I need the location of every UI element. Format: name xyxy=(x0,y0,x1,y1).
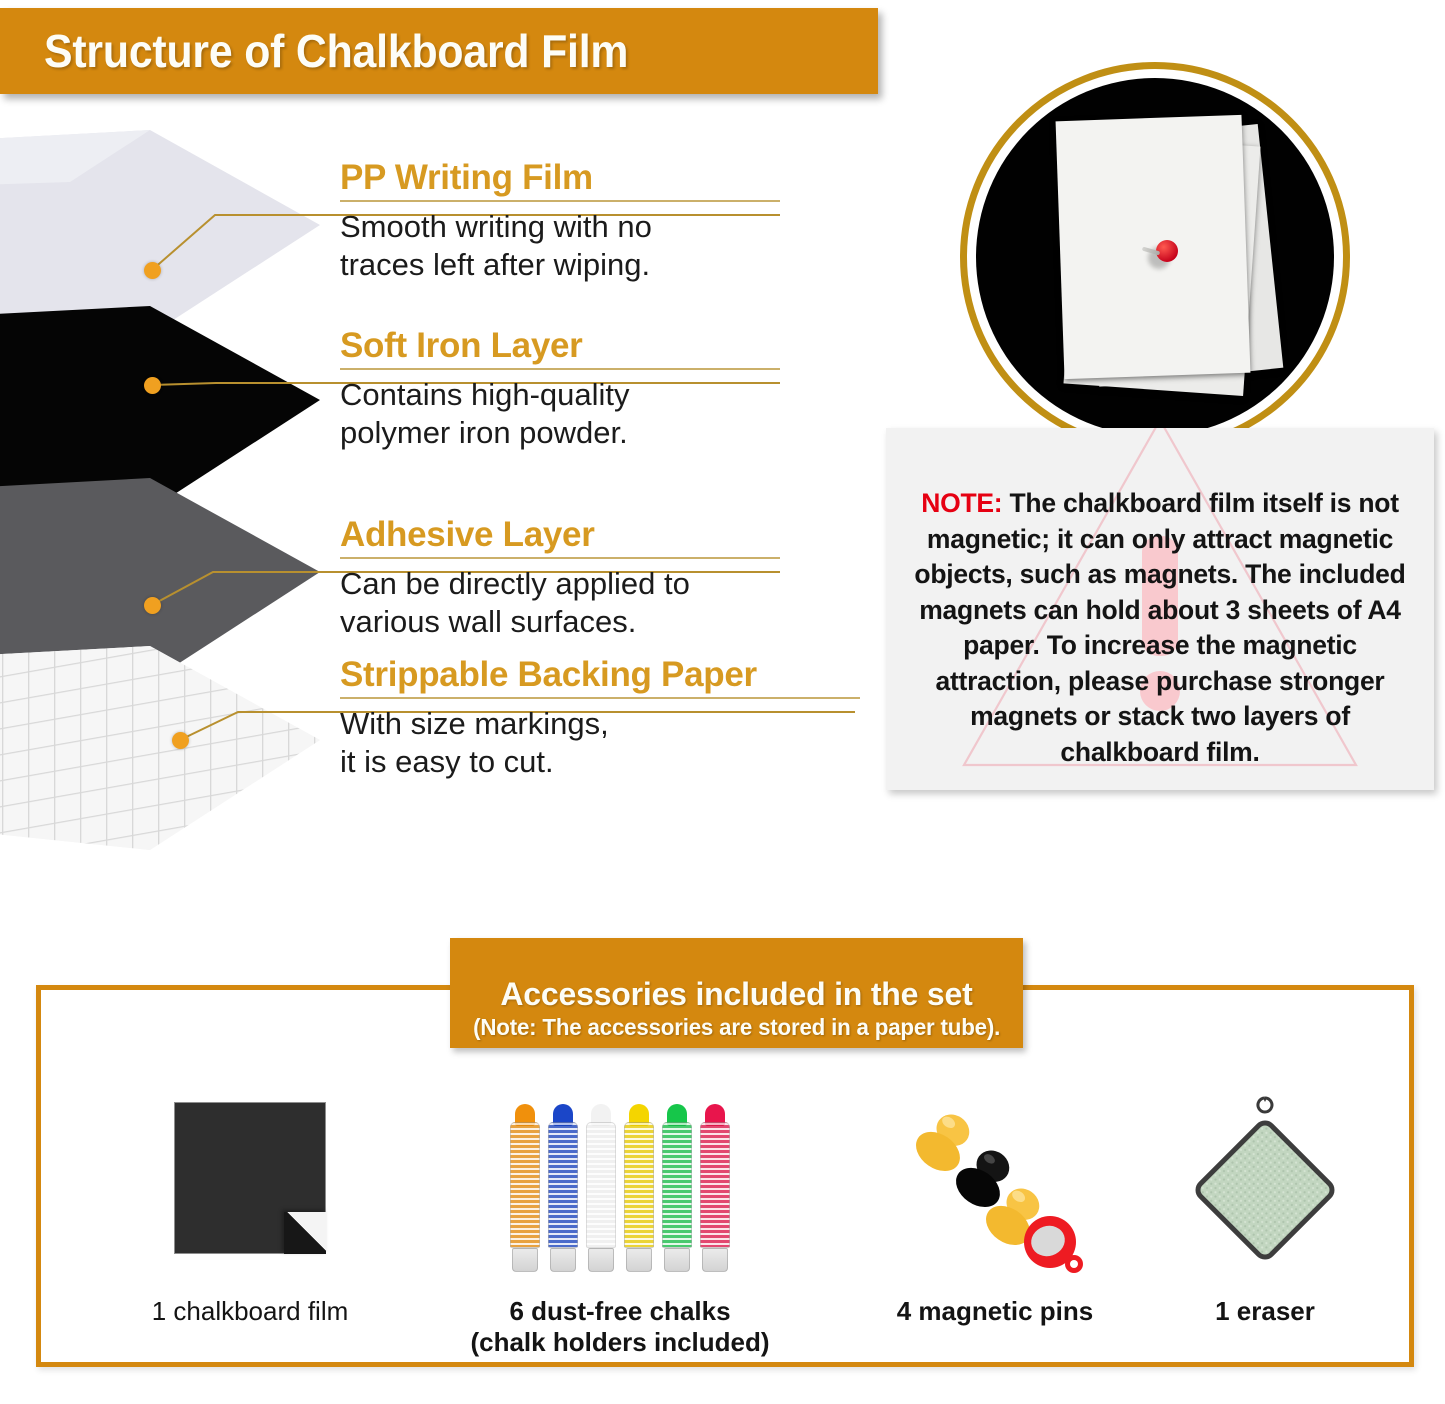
heading-rule xyxy=(340,697,860,699)
layer-description: Contains high-quality polymer iron powde… xyxy=(340,376,780,452)
chalk-body xyxy=(624,1122,654,1248)
layer-dot-soft-iron xyxy=(144,377,161,394)
accessory-item-dust-free-chalks: 6 dust-free chalks (chalk holders includ… xyxy=(430,1090,810,1358)
eraser-cloth-icon xyxy=(1185,1096,1345,1276)
accessories-banner-subtitle: (Note: The accessories are stored in a p… xyxy=(473,1014,1000,1041)
note-label: NOTE: xyxy=(921,488,1002,518)
layer-dot-pp-writing-film xyxy=(144,262,161,279)
chalk-body xyxy=(586,1122,616,1248)
accessory-item-eraser: 1 eraser xyxy=(1130,1090,1400,1327)
layer-description: Can be directly applied to various wall … xyxy=(340,565,780,641)
note-box: NOTE: The chalkboard film itself is not … xyxy=(886,428,1434,790)
chalk-holder xyxy=(662,1104,692,1272)
chalk-holder-base xyxy=(550,1248,576,1272)
accessory-caption: 1 chalkboard film xyxy=(55,1296,445,1327)
chalk-holder xyxy=(548,1104,578,1272)
accessory-art xyxy=(1130,1090,1400,1280)
note-text: NOTE: The chalkboard film itself is not … xyxy=(886,428,1434,770)
layer-heading: Adhesive Layer xyxy=(340,515,780,555)
accessories-banner: Accessories included in the set (Note: T… xyxy=(450,938,1023,1048)
layer-dot-adhesive xyxy=(144,597,161,614)
infographic-root: Structure of Chalkboard Film xyxy=(0,0,1445,1404)
accessory-art xyxy=(830,1090,1160,1280)
chalk-holder xyxy=(700,1104,730,1272)
chalk-body xyxy=(548,1122,578,1248)
layer-label-soft-iron: Soft Iron Layer Contains high-quality po… xyxy=(340,326,780,452)
chalk-holder-base xyxy=(588,1248,614,1272)
accessory-art xyxy=(430,1090,810,1280)
magnetic-pin-icon xyxy=(1156,240,1178,262)
corner-curl xyxy=(284,1212,326,1254)
accessory-caption: 4 magnetic pins xyxy=(830,1296,1160,1327)
magnetic-pins-icon xyxy=(900,1108,1090,1273)
layer-dot-backing-paper xyxy=(172,732,189,749)
layer-heading: PP Writing Film xyxy=(340,158,780,198)
accessory-caption: 6 dust-free chalks (chalk holders includ… xyxy=(430,1296,810,1358)
chalk-body xyxy=(510,1122,540,1248)
layer-description: Smooth writing with no traces left after… xyxy=(340,208,780,284)
chalk-holder-base xyxy=(512,1248,538,1272)
chalk-body xyxy=(662,1122,692,1248)
accessory-caption: 1 eraser xyxy=(1130,1296,1400,1327)
accessory-item-magnetic-pins: 4 magnetic pins xyxy=(830,1090,1160,1327)
heading-rule xyxy=(340,200,780,202)
heading-rule xyxy=(340,557,780,559)
note-body: The chalkboard film itself is not magnet… xyxy=(914,488,1405,767)
chalk-body xyxy=(700,1122,730,1248)
layer-label-adhesive: Adhesive Layer Can be directly applied t… xyxy=(340,515,780,641)
layer-heading: Strippable Backing Paper xyxy=(340,655,860,695)
accessories-banner-title: Accessories included in the set xyxy=(500,976,972,1013)
heading-rule xyxy=(340,368,780,370)
magnet-demo-photo xyxy=(960,62,1350,452)
accessory-art xyxy=(55,1090,445,1280)
layer-heading: Soft Iron Layer xyxy=(340,326,780,366)
chalk-holder-base xyxy=(664,1248,690,1272)
layer-label-backing-paper: Strippable Backing Paper With size marki… xyxy=(340,655,860,781)
layer-label-pp-writing-film: PP Writing Film Smooth writing with no t… xyxy=(340,158,780,284)
chalk-holder xyxy=(510,1104,540,1272)
chalk-holder xyxy=(624,1104,654,1272)
gold-ring-border xyxy=(960,62,1350,452)
chalk-holder xyxy=(586,1104,616,1272)
accessory-item-chalkboard-film: 1 chalkboard film xyxy=(55,1090,445,1327)
chalk-holders-icon xyxy=(500,1104,740,1276)
chalk-holder-base xyxy=(702,1248,728,1272)
chalkboard-film-icon xyxy=(174,1102,326,1254)
chalk-holder-base xyxy=(626,1248,652,1272)
layer-description: With size markings, it is easy to cut. xyxy=(340,705,860,781)
